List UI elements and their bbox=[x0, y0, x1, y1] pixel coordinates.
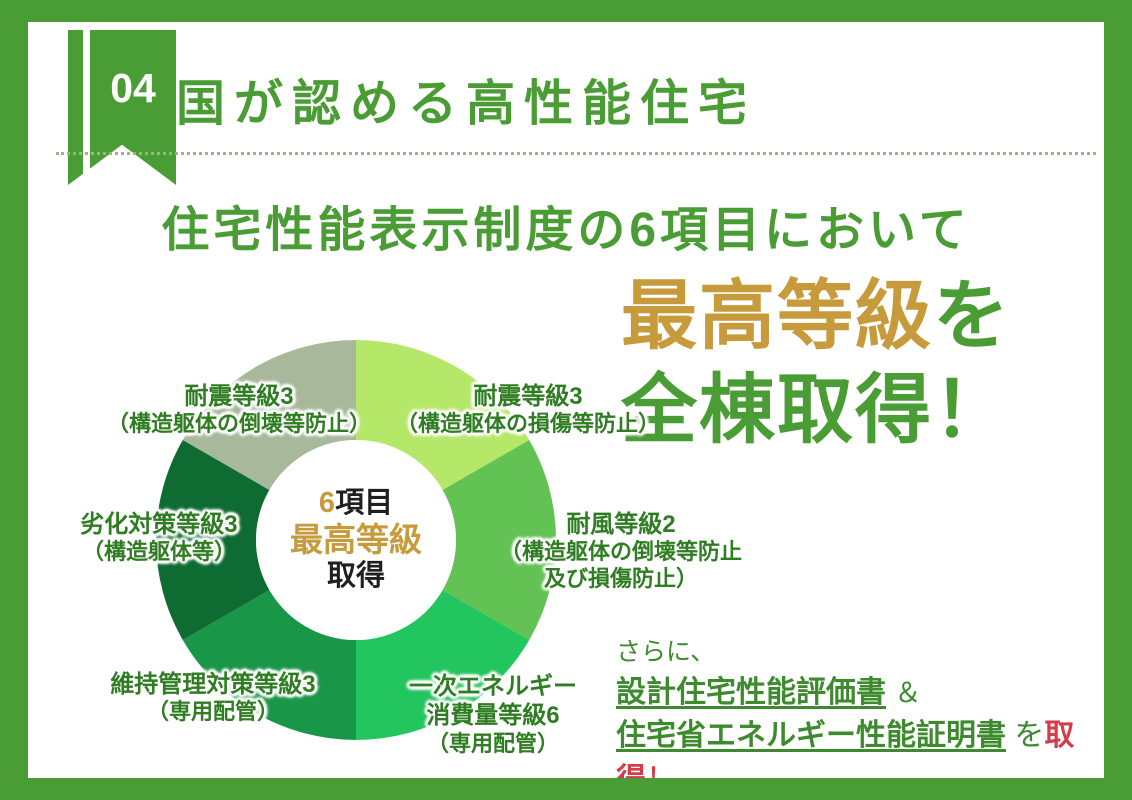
headline-particle: を bbox=[933, 274, 1011, 359]
donut-label-sub: （構造躯体の損傷等防止） bbox=[388, 411, 668, 438]
donut-label-sub: （専用配管） bbox=[68, 699, 358, 726]
donut-center-unit: 項目 bbox=[335, 487, 393, 519]
donut-label-degradation: 劣化対策等級3 （構造躯体等） bbox=[44, 510, 274, 566]
donut-label-title: 耐震等級3 bbox=[388, 382, 668, 411]
slide-canvas: 04 国が認める高性能住宅 住宅性能表示制度の6項目において 最高等級を 全棟取… bbox=[28, 22, 1104, 778]
footnote-exclamation: ！ bbox=[646, 763, 676, 778]
donut-center-line-1: 6項目 bbox=[319, 486, 393, 520]
donut-label-earthquake-collapse: 耐震等級3 （構造躯体の倒壊等防止） bbox=[104, 382, 374, 438]
donut-label-title: 耐風等級2 bbox=[476, 510, 766, 539]
slide-frame: 04 国が認める高性能住宅 住宅性能表示制度の6項目において 最高等級を 全棟取… bbox=[0, 0, 1132, 800]
footnote-document-1: 設計住宅性能評価書 bbox=[616, 676, 886, 709]
footnote-line-2: 住宅省エネルギー性能証明書 を取得！ bbox=[616, 714, 1096, 778]
footnote-ampersand: ＆ bbox=[894, 678, 921, 708]
donut-label-title2: 消費量等級6 bbox=[358, 701, 628, 730]
footnote-document-2: 住宅省エネルギー性能証明書 bbox=[616, 719, 1006, 752]
donut-center-line-2: 最高等級 bbox=[290, 521, 422, 560]
donut-label-sub: （構造躯体等） bbox=[44, 539, 274, 566]
donut-label-title: 耐震等級3 bbox=[104, 382, 374, 411]
donut-label-maintenance: 維持管理対策等級3 （専用配管） bbox=[68, 670, 358, 726]
headline-line-2: 最高等級を bbox=[528, 274, 1104, 359]
headline-line-1: 住宅性能表示制度の6項目において bbox=[28, 190, 1104, 260]
headline-highlight-grade: 最高等級 bbox=[621, 274, 933, 359]
donut-label-title: 劣化対策等級3 bbox=[44, 510, 274, 539]
footnote-particle: を bbox=[1014, 719, 1044, 752]
section-number-ribbon: 04 bbox=[68, 30, 176, 185]
header-divider bbox=[56, 152, 1096, 155]
donut-label-title: 維持管理対策等級3 bbox=[68, 670, 358, 699]
donut-label-sub: （構造躯体の倒壊等防止） bbox=[104, 411, 374, 438]
donut-label-sub: （構造躯体の倒壊等防止 bbox=[476, 539, 766, 566]
footnote-line-1: 設計住宅性能評価書 ＆ bbox=[616, 671, 1096, 715]
page-title: 国が認める高性能住宅 bbox=[176, 64, 756, 135]
donut-center-line-3: 取得 bbox=[327, 559, 385, 593]
footnote-intro: さらに、 bbox=[616, 634, 1096, 671]
donut-label-title: 一次エネルギー bbox=[358, 672, 628, 701]
ribbon-notch bbox=[83, 30, 90, 185]
donut-label-sub: （専用配管） bbox=[358, 731, 628, 758]
donut-label-wind-resistance: 耐風等級2 （構造躯体の倒壊等防止 及び損傷防止） bbox=[476, 510, 766, 593]
donut-center-label: 6項目 最高等級 取得 bbox=[256, 440, 456, 640]
footnote-block: さらに、 設計住宅性能評価書 ＆ 住宅省エネルギー性能証明書 を取得！ bbox=[616, 634, 1096, 778]
donut-label-sub2: 及び損傷防止） bbox=[476, 566, 766, 593]
donut-label-primary-energy: 一次エネルギー 消費量等級6 （専用配管） bbox=[358, 672, 628, 757]
donut-label-earthquake-damage: 耐震等級3 （構造躯体の損傷等防止） bbox=[388, 382, 668, 438]
section-number: 04 bbox=[90, 68, 176, 109]
donut-center-number: 6 bbox=[319, 487, 335, 519]
